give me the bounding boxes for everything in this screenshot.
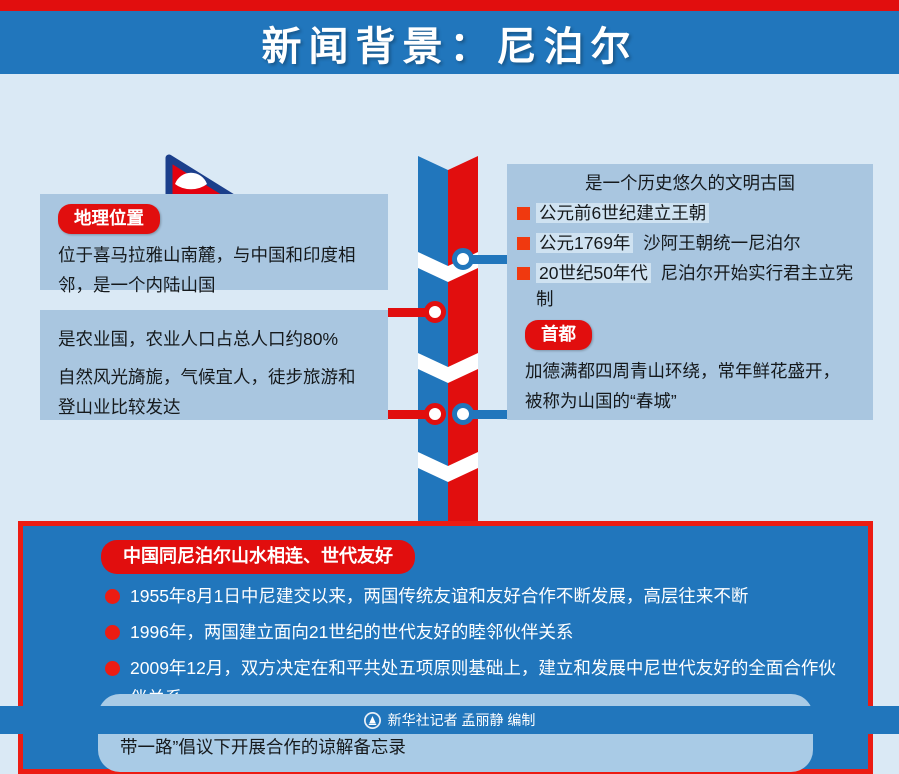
center-ribbon — [418, 156, 478, 521]
relations-item: 1955年8月1日中尼建交以来，两国传统友谊和友好合作不断发展，高层往来不断 — [130, 581, 748, 611]
economy-line-2: 自然风光旖旎，气候宜人，徒步旅游和登山业比较发达 — [58, 362, 370, 422]
history-intro: 是一个历史悠久的文明古国 — [507, 164, 873, 198]
page-title: 新闻背景：尼泊尔 — [0, 11, 899, 74]
history-entry: 公元前6世纪建立王朝 — [536, 200, 709, 226]
footer: 新华社记者 孟丽静 编制 — [0, 706, 899, 734]
history-detail: 沙阿王朝统一尼泊尔 — [643, 233, 801, 253]
connector-node-history — [452, 248, 474, 270]
geography-badge-wrap: 地理位置 — [58, 204, 370, 234]
economy-panel: 是农业国，农业人口占总人口约80% 自然风光旖旎，气候宜人，徒步旅游和登山业比较… — [40, 310, 388, 420]
list-item: 公元1769年 沙阿王朝统一尼泊尔 — [507, 228, 873, 258]
footer-credit: 新华社记者 孟丽静 编制 — [388, 710, 536, 730]
square-bullet-icon — [517, 237, 530, 250]
list-item: 1955年8月1日中尼建交以来，两国传统友谊和友好合作不断发展，高层往来不断 — [23, 578, 868, 614]
geography-text: 位于喜马拉雅山南麓，与中国和印度相邻，是一个内陆山国 — [58, 240, 370, 300]
connector-node-geography — [424, 301, 446, 323]
circle-bullet-icon — [105, 625, 120, 640]
connector-arm-history — [470, 255, 512, 264]
connector-node-economy — [424, 403, 446, 425]
connector-arm-capital — [470, 410, 512, 419]
history-date: 公元1769年 — [536, 233, 633, 253]
history-date: 公元前6世纪建立王朝 — [536, 203, 709, 223]
relations-item: 1996年，两国建立面向21世纪的世代友好的睦邻伙伴关系 — [130, 617, 573, 647]
history-entry: 公元1769年 沙阿王朝统一尼泊尔 — [536, 230, 801, 256]
relations-badge: 中国同尼泊尔山水相连、世代友好 — [101, 540, 415, 574]
square-bullet-icon — [517, 267, 530, 280]
geography-badge: 地理位置 — [58, 204, 160, 234]
capital-badge: 首都 — [525, 320, 592, 350]
square-bullet-icon — [517, 207, 530, 220]
economy-line-1: 是农业国，农业人口占总人口约80% — [58, 324, 370, 354]
capital-badge-wrap: 首都 — [525, 320, 855, 350]
infographic-body: 是一个历史悠久的文明古国 公元前6世纪建立王朝 公元1769年 沙阿王朝统一尼泊… — [0, 74, 899, 706]
geography-panel: 地理位置 位于喜马拉雅山南麓，与中国和印度相邻，是一个内陆山国 — [40, 194, 388, 290]
list-item: 1996年，两国建立面向21世纪的世代友好的睦邻伙伴关系 — [23, 614, 868, 650]
circle-bullet-icon — [105, 589, 120, 604]
list-item: 公元前6世纪建立王朝 — [507, 198, 873, 228]
connector-node-capital — [452, 403, 474, 425]
china-nepal-relations-block: 中国同尼泊尔山水相连、世代友好 1955年8月1日中尼建交以来，两国传统友谊和友… — [18, 521, 873, 774]
list-item: 20世纪50年代 尼泊尔开始实行君主立宪制 — [507, 258, 873, 314]
circle-bullet-icon — [105, 661, 120, 676]
capital-text: 加德满都四周青山环绕，常年鲜花盛开，被称为山国的“春城” — [525, 356, 855, 416]
history-date: 20世纪50年代 — [536, 263, 651, 283]
capital-panel: 首都 加德满都四周青山环绕，常年鲜花盛开，被称为山国的“春城” — [507, 310, 873, 420]
relations-badge-wrap: 中国同尼泊尔山水相连、世代友好 — [23, 526, 868, 578]
top-red-strip — [0, 0, 899, 11]
history-entry: 20世纪50年代 尼泊尔开始实行君主立宪制 — [536, 260, 865, 312]
xinhua-logo-icon — [364, 712, 381, 729]
